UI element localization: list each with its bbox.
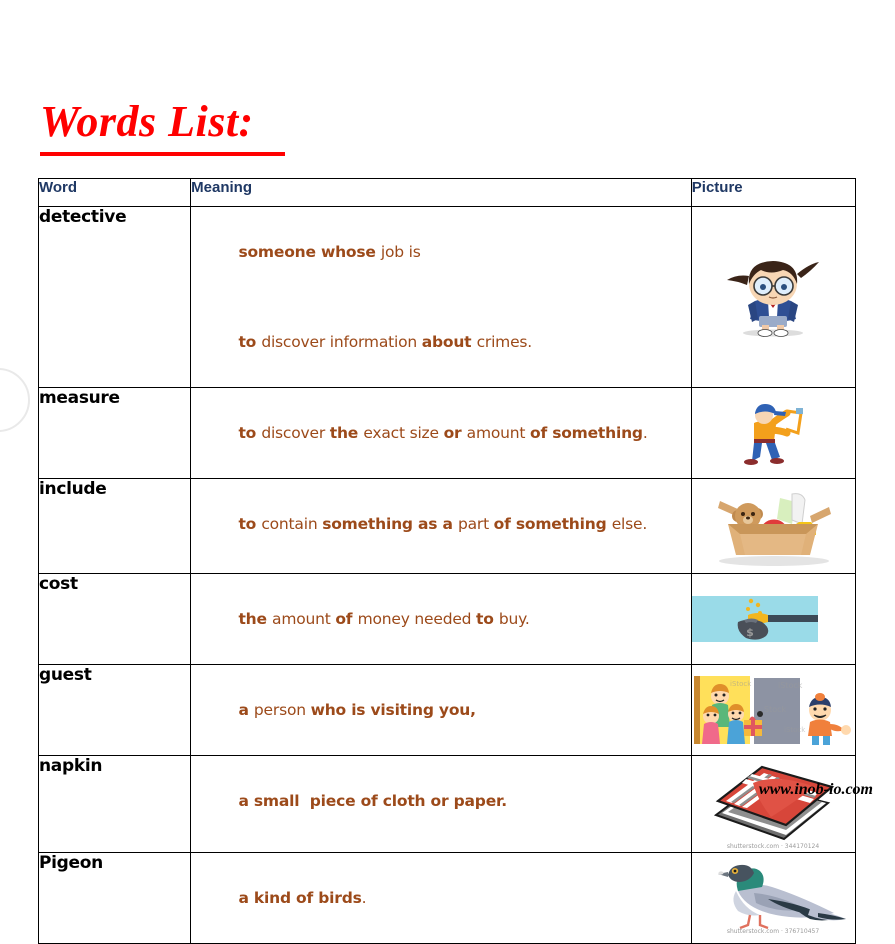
- meaning-segment: contain: [261, 515, 322, 533]
- worker-measuring-image: [692, 388, 855, 478]
- meaning-line: to discover the exact size or amount of …: [191, 388, 691, 478]
- watermark-text: iStock: [778, 681, 803, 690]
- words-list-table: Word Meaning Picture detective someone w…: [38, 178, 856, 944]
- meaning-segment: person: [254, 701, 311, 719]
- table-header-row: Word Meaning Picture: [39, 179, 856, 207]
- meaning-segment: job is: [381, 243, 421, 261]
- meaning-line: someone whose job is: [191, 207, 691, 297]
- meaning-segment: .: [643, 424, 648, 442]
- table-row: measure to discover the exact size or am…: [39, 388, 856, 479]
- meaning-segment: to: [238, 333, 261, 351]
- meaning-line: a kind of birds.: [191, 853, 691, 943]
- meaning-segment: a small piece of cloth or paper.: [238, 792, 506, 810]
- word-cell: include: [39, 479, 191, 574]
- meaning-segment: something as a: [322, 515, 458, 533]
- picture-cell: iStock iStock Stock iStock: [691, 665, 855, 756]
- meaning-segment: .: [362, 889, 367, 907]
- meaning-cell: someone whose job is to discover informa…: [191, 207, 692, 388]
- meaning-cell: to contain something as a part of someth…: [191, 479, 692, 574]
- meaning-line: the amount of money needed to buy.: [191, 574, 691, 664]
- meaning-cell: the amount of money needed to buy.: [191, 574, 692, 665]
- meaning-segment: part: [458, 515, 494, 533]
- meaning-segment: money needed: [358, 610, 476, 628]
- pigeon-bird-image: shutterstock.com · 376710457: [692, 853, 855, 943]
- picture-cell: [691, 388, 855, 479]
- meaning-segment: a kind of birds: [238, 889, 361, 907]
- meaning-segment: exact size: [363, 424, 443, 442]
- table-row: Pigeon a kind of birds.: [39, 853, 856, 944]
- meaning-line: to contain something as a part of someth…: [191, 479, 691, 569]
- watermark-text: Stock: [764, 705, 787, 714]
- meaning-segment: or: [444, 424, 467, 442]
- meaning-segment: buy.: [499, 610, 530, 628]
- picture-cell: [691, 479, 855, 574]
- meaning-segment: discover information: [261, 333, 421, 351]
- meaning-segment: the: [330, 424, 364, 442]
- column-header-picture: Picture: [691, 179, 855, 207]
- meaning-segment: of: [335, 610, 357, 628]
- word-cell: detective: [39, 207, 191, 388]
- meaning-segment: someone whose: [238, 243, 380, 261]
- meaning-segment: a: [238, 701, 253, 719]
- table-row: detective someone whose job is to discov…: [39, 207, 856, 388]
- box-with-toys-image: [692, 479, 855, 573]
- watermark-text: shutterstock.com · 376710457: [727, 928, 820, 935]
- meaning-segment: who is visiting you,: [311, 701, 476, 719]
- meaning-line: to discover information about crimes.: [191, 297, 691, 387]
- page-title: Words List:: [40, 96, 254, 148]
- picture-cell: shutterstock.com · 344170124: [691, 756, 855, 853]
- column-header-word: Word: [39, 179, 191, 207]
- picture-cell: shutterstock.com · 376710457: [691, 853, 855, 944]
- meaning-segment: amount: [272, 610, 335, 628]
- picture-cell: $: [691, 574, 855, 665]
- meaning-segment: else.: [612, 515, 647, 533]
- picture-cell: [691, 207, 855, 388]
- word-cell: guest: [39, 665, 191, 756]
- table-row: guest a person who is visiting you,: [39, 665, 856, 756]
- watermark-text: iStock: [730, 680, 752, 688]
- footer-url: www.inob-io.com: [759, 781, 873, 799]
- meaning-segment: of something: [494, 515, 612, 533]
- meaning-segment: to: [238, 515, 261, 533]
- word-cell: measure: [39, 388, 191, 479]
- svg-text:$: $: [746, 626, 754, 639]
- table-row: napkin a small piece of cloth or paper.: [39, 756, 856, 853]
- meaning-segment: the: [238, 610, 272, 628]
- family-greeting-guest-image: iStock iStock Stock iStock: [692, 665, 855, 755]
- detective-boy-image: [692, 207, 855, 387]
- word-cell: cost: [39, 574, 191, 665]
- meaning-segment: about: [422, 333, 477, 351]
- meaning-line: a person who is visiting you,: [191, 665, 691, 755]
- money-bag-coins-image: $: [692, 574, 855, 664]
- meaning-segment: to: [238, 424, 261, 442]
- word-cell: Pigeon: [39, 853, 191, 944]
- watermark-text: iStock: [784, 726, 806, 734]
- meaning-line: a small piece of cloth or paper.: [191, 756, 691, 846]
- column-header-meaning: Meaning: [191, 179, 692, 207]
- meaning-segment: discover: [261, 424, 329, 442]
- meaning-segment: crimes.: [477, 333, 532, 351]
- meaning-cell: to discover the exact size or amount of …: [191, 388, 692, 479]
- title-underline: [40, 152, 285, 156]
- watermark-text: shutterstock.com · 344170124: [727, 843, 820, 850]
- meaning-cell: a person who is visiting you,: [191, 665, 692, 756]
- meaning-segment: of something: [530, 424, 643, 442]
- meaning-cell: a kind of birds.: [191, 853, 692, 944]
- page-scan-artifact: [0, 368, 30, 432]
- meaning-segment: amount: [467, 424, 530, 442]
- table-row: include to contain something as a part o…: [39, 479, 856, 574]
- meaning-segment: to: [476, 610, 499, 628]
- folded-napkin-image: shutterstock.com · 344170124: [692, 756, 855, 852]
- meaning-cell: a small piece of cloth or paper.: [191, 756, 692, 853]
- word-cell: napkin: [39, 756, 191, 853]
- table-row: cost the amount of money needed to buy.: [39, 574, 856, 665]
